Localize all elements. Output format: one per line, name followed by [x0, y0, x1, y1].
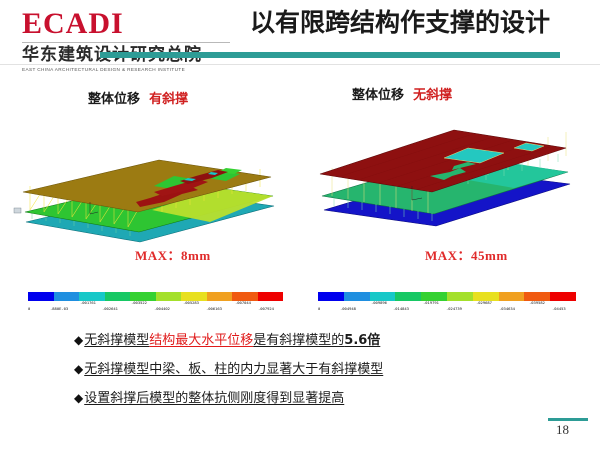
- legend-swatch: [130, 292, 156, 301]
- legend-swatch: [258, 292, 284, 301]
- brand-logo: ECADI 华东建筑设计研究总院 EAST CHINA ARCHITECTURA…: [22, 8, 232, 72]
- caption-right: 整体位移 无斜撑: [352, 84, 452, 103]
- list-item: ◆无斜撑模型中梁、板、柱的内力显著大于有斜撑模型: [74, 355, 574, 384]
- legend-swatch: [447, 292, 473, 301]
- legend-swatch: [524, 292, 550, 301]
- legend-tick: .009896: [371, 301, 387, 305]
- title-accent-bar: [100, 52, 560, 58]
- legend-swatch: [370, 292, 396, 301]
- legend-tick: .029687: [476, 301, 492, 305]
- legend-swatch: [207, 292, 233, 301]
- page-number: 18: [556, 422, 569, 438]
- list-item: ◆无斜撑模型结构最大水平位移是有斜撑模型的5.6倍: [74, 326, 574, 355]
- legend-right-colorbar: [318, 292, 576, 301]
- legend-left: 0 .880E-03 .001761 .002641 .003522 .0044…: [28, 292, 283, 315]
- legend-tick: .004402: [154, 307, 170, 311]
- legend-swatch: [473, 292, 499, 301]
- caption-right-dark: 整体位移: [352, 88, 404, 103]
- legend-swatch: [232, 292, 258, 301]
- legend-right-ticks: 0 .004948 .009896 .014843 .019791 .02473…: [318, 301, 576, 315]
- legend-swatch: [421, 292, 447, 301]
- legend-tick: .039582: [529, 301, 545, 305]
- legend-tick: .019791: [423, 301, 439, 305]
- logo-english-name: EAST CHINA ARCHITECTURAL DESIGN & RESEAR…: [22, 67, 236, 72]
- max-value-left: MAX：8mm: [135, 245, 211, 264]
- legend-tick: .007924: [258, 307, 274, 311]
- list-item: ◆设置斜撑后模型的整体抗侧刚度得到显著提高: [74, 384, 574, 413]
- legend-tick: .004948: [340, 307, 356, 311]
- page-title-text: 以有限跨结构作支撑的设计: [250, 6, 590, 40]
- legend-swatch: [550, 292, 576, 301]
- logo-divider: [22, 42, 230, 43]
- legend-swatch: [499, 292, 525, 301]
- legend-tick: 0: [318, 307, 320, 311]
- legend-tick: .04453: [552, 307, 566, 311]
- bullet-diamond-icon: ◆: [74, 333, 83, 347]
- caption-left-dark: 整体位移: [88, 92, 140, 107]
- legend-swatch: [105, 292, 131, 301]
- legend-tick: .006163: [206, 307, 222, 311]
- legend-swatch: [395, 292, 421, 301]
- legend-tick: .014843: [393, 307, 409, 311]
- caption-left: 整体位移 有斜撑: [88, 88, 188, 107]
- bullet-2-text: 无斜撑模型中梁、板、柱的内力显著大于有斜撑模型: [84, 362, 383, 377]
- bullet-1-seg4: 5.6倍: [344, 333, 380, 348]
- legend-tick: .034634: [499, 307, 515, 311]
- legend-tick: .007044: [235, 301, 251, 305]
- bullet-diamond-icon: ◆: [74, 362, 83, 376]
- bullet-diamond-icon: ◆: [74, 391, 83, 405]
- legend-tick: .003522: [131, 301, 147, 305]
- legend-tick: .024739: [446, 307, 462, 311]
- caption-left-red: 有斜撑: [149, 92, 188, 107]
- legend-swatch: [28, 292, 54, 301]
- fea-model-unbraced: [318, 122, 594, 232]
- conclusion-list: ◆无斜撑模型结构最大水平位移是有斜撑模型的5.6倍 ◆无斜撑模型中梁、板、柱的内…: [74, 326, 574, 413]
- fea-model-braced: [12, 150, 300, 250]
- legend-swatch: [181, 292, 207, 301]
- legend-left-ticks: 0 .880E-03 .001761 .002641 .003522 .0044…: [28, 301, 283, 315]
- legend-tick: .005283: [183, 301, 199, 305]
- bullet-3-text: 设置斜撑后模型的整体抗侧刚度得到显著提高: [84, 391, 344, 406]
- legend-swatch: [156, 292, 182, 301]
- bullet-1-seg1: 无斜撑模型: [84, 333, 149, 348]
- footer-accent-rule: [548, 418, 588, 421]
- legend-swatch: [318, 292, 344, 301]
- page-title: 以有限跨结构作支撑的设计: [250, 6, 590, 40]
- legend-tick: 0: [28, 307, 30, 311]
- header-divider: [0, 64, 600, 65]
- slide: ECADI 华东建筑设计研究总院 EAST CHINA ARCHITECTURA…: [0, 0, 600, 450]
- legend-swatch: [344, 292, 370, 301]
- legend-right: 0 .004948 .009896 .014843 .019791 .02473…: [318, 292, 576, 315]
- legend-swatch: [79, 292, 105, 301]
- logo-wordmark: ECADI: [22, 8, 232, 40]
- legend-tick: .880E-03: [50, 307, 68, 311]
- max-value-right: MAX：45mm: [425, 245, 508, 264]
- legend-tick: .001761: [80, 301, 96, 305]
- legend-left-colorbar: [28, 292, 283, 301]
- bullet-1-seg3: 是有斜撑模型的: [253, 333, 344, 348]
- bullet-1-seg2: 结构最大水平位移: [149, 333, 253, 348]
- legend-swatch: [54, 292, 80, 301]
- legend-tick: .002641: [102, 307, 118, 311]
- caption-right-red: 无斜撑: [413, 88, 452, 103]
